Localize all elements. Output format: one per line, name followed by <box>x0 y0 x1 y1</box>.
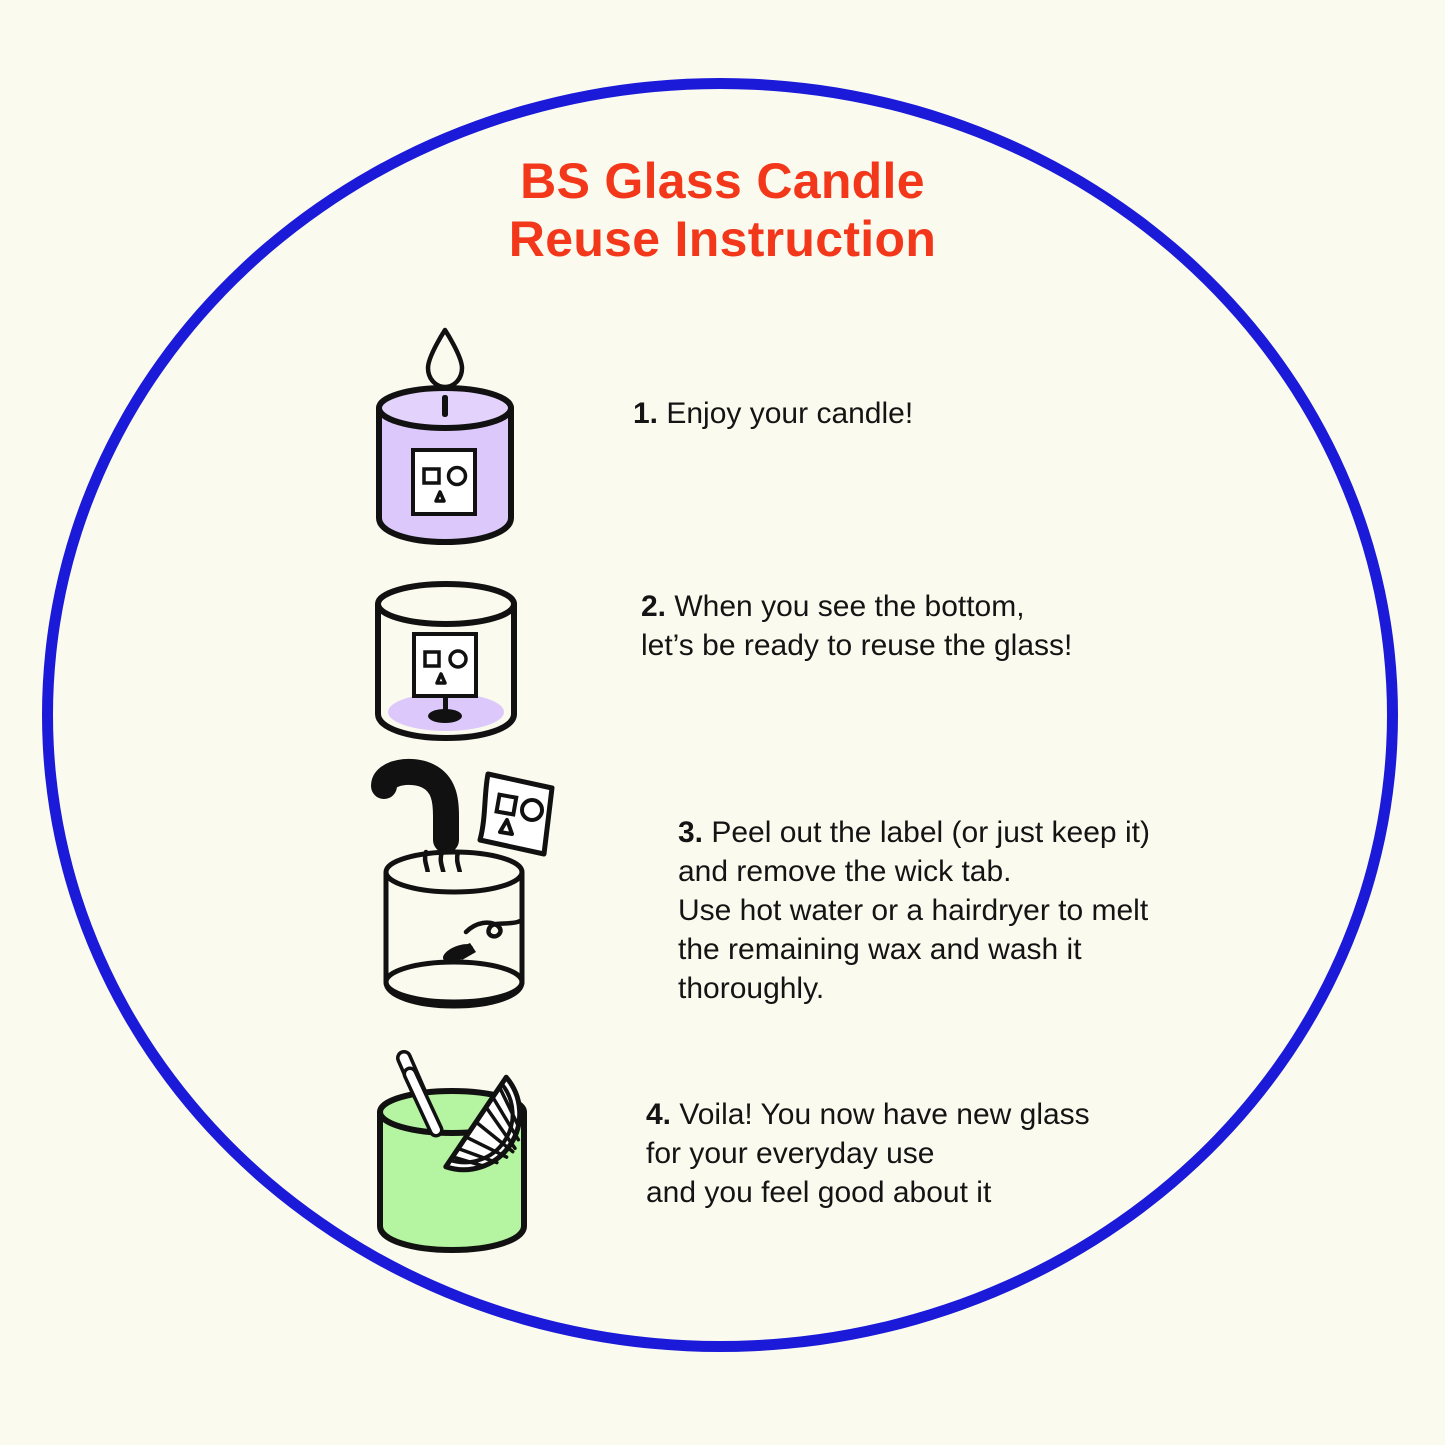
step-2-text: 2. When you see the bottom, let’s be rea… <box>641 587 1072 665</box>
lit-candle-illustration <box>366 322 541 552</box>
empty-candle-glass-icon <box>366 578 541 748</box>
green-drink-glass-icon <box>366 1050 546 1260</box>
step-2: 2. When you see the bottom, let’s be rea… <box>366 578 1072 748</box>
step-4-body: Voila! You now have new glass for your e… <box>646 1098 1090 1209</box>
lit-candle-icon <box>366 322 541 552</box>
step-1-text: 1. Enjoy your candle! <box>633 394 913 433</box>
faucet-label-wicktab-icon <box>366 760 576 1010</box>
title-line-2: Reuse Instruction <box>0 210 1445 268</box>
step-3-number: 3. <box>678 816 703 849</box>
step-4: 4. Voila! You now have new glass for you… <box>366 1050 1090 1260</box>
step-3-text: 3. Peel out the label (or just keep it) … <box>678 813 1150 1008</box>
step-3: 3. Peel out the label (or just keep it) … <box>366 760 1150 1010</box>
green-drink-illustration <box>366 1050 546 1260</box>
step-4-text: 4. Voila! You now have new glass for you… <box>646 1095 1090 1212</box>
step-1-number: 1. <box>633 397 658 430</box>
step-3-body: Peel out the label (or just keep it) and… <box>678 816 1150 1005</box>
step-1-body: Enjoy your candle! <box>658 397 913 430</box>
poster-canvas: BS Glass Candle Reuse Instruction 1. Enj… <box>0 0 1445 1445</box>
empty-glass-illustration <box>366 578 541 748</box>
step-2-number: 2. <box>641 590 666 623</box>
title-line-1: BS Glass Candle <box>0 152 1445 210</box>
step-1: 1. Enjoy your candle! <box>366 322 913 552</box>
wash-glass-illustration <box>366 760 576 1010</box>
step-2-body: When you see the bottom, let’s be ready … <box>641 590 1072 662</box>
step-4-number: 4. <box>646 1098 671 1131</box>
page-title: BS Glass Candle Reuse Instruction <box>0 152 1445 268</box>
